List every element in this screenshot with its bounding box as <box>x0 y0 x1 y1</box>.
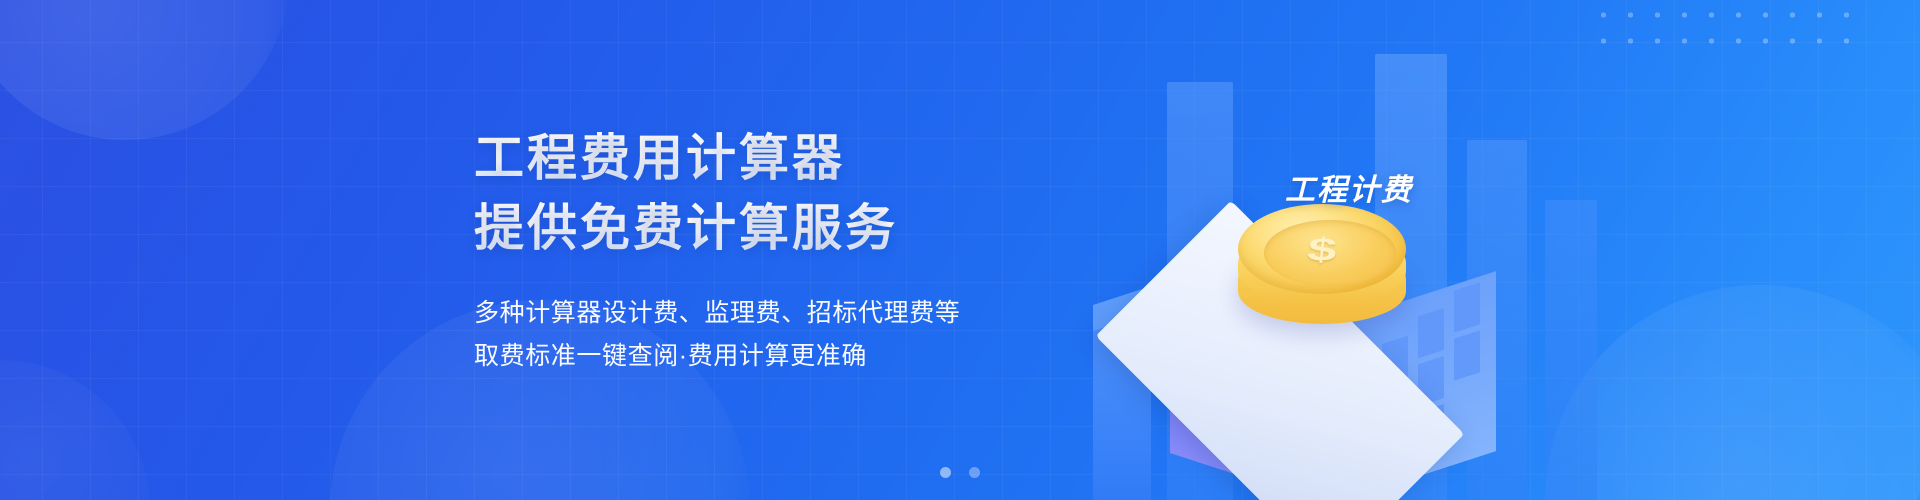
building-window <box>1454 282 1480 332</box>
background-bar-5 <box>1545 200 1597 500</box>
carousel-indicators[interactable] <box>940 467 980 478</box>
decorative-circle-top-left <box>0 0 290 140</box>
banner-copy: 工程费用计算器 提供免费计算服务 多种计算器设计费、监理费、招标代理费等 取费标… <box>474 128 1114 376</box>
carousel-dot-2[interactable] <box>969 467 980 478</box>
hero-banner: 工程费用计算器 提供免费计算服务 多种计算器设计费、监理费、招标代理费等 取费标… <box>0 0 1920 500</box>
banner-subtitle-line2: 取费标准一键查阅·费用计算更准确 <box>474 336 1114 377</box>
illustration-label: 工程计费 <box>1285 165 1413 209</box>
banner-headline-line2: 提供免费计算服务 <box>474 198 1114 260</box>
building-window <box>1454 330 1480 380</box>
carousel-dot-1[interactable] <box>940 467 951 478</box>
banner-subtitle-line1: 多种计算器设计费、监理费、招标代理费等 <box>474 293 1114 334</box>
coin-stack-icon: $ <box>1230 198 1420 348</box>
dollar-sign-icon: $ <box>1236 234 1408 266</box>
coin-top-layer: $ <box>1238 204 1406 294</box>
decorative-circle-bottom-left <box>0 360 150 500</box>
banner-headline-line1: 工程费用计算器 <box>474 128 1114 190</box>
building-window <box>1418 308 1444 358</box>
isometric-illustration: $ <box>1075 20 1635 500</box>
